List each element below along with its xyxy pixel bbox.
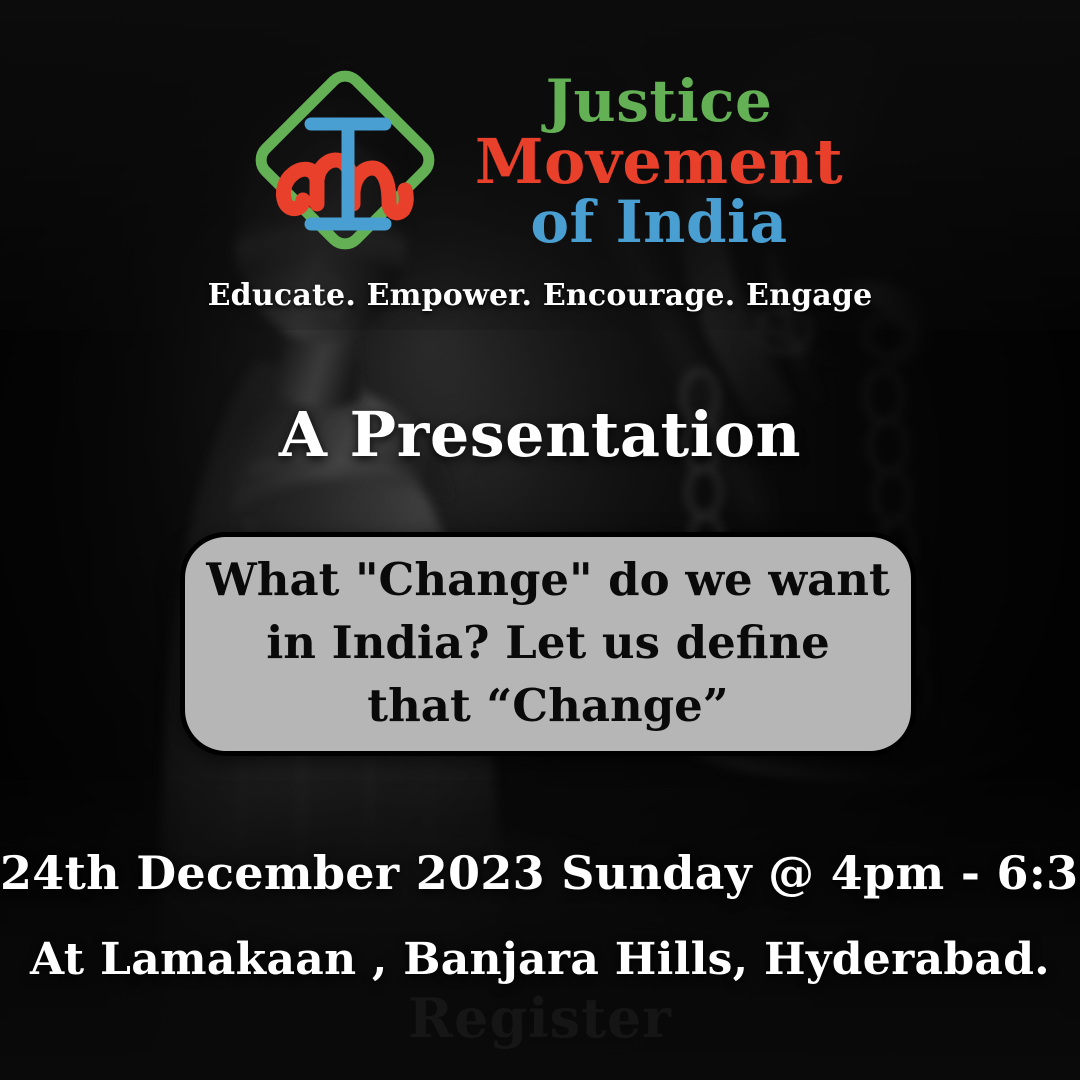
organization-tagline: Educate. Empower. Encourage. Engage [208,278,873,313]
event-poster: Justice Movement of India Educate. Empow… [0,0,1080,1080]
justice-movement-diamond-logo-icon [237,52,453,268]
logo-wordmark: Justice Movement of India [475,73,843,251]
question-line-3: that “Change” [367,674,728,737]
event-details: 24th December 2023 Sunday @ 4pm - 6:30pm… [0,846,1080,985]
logo-word-of-india: of India [530,194,787,251]
question-line-2: in India? Let us define [266,611,830,674]
logo-word-justice: Justice [546,73,773,130]
question-line-1: What "Change" do we want [206,548,890,611]
event-venue: At Lamakaan , Banjara Hills, Hyderabad. [0,934,1080,985]
organization-logo-block: Justice Movement of India Educate. Empow… [0,52,1080,313]
logo-word-movement: Movement [475,132,843,193]
event-date-time: 24th December 2023 Sunday @ 4pm - 6:30pm [0,846,1080,900]
question-callout-box: What "Change" do we want in India? Let u… [180,532,916,756]
logo-row: Justice Movement of India [237,52,843,268]
page-title: A Presentation [0,398,1080,471]
register-watermark-text: Register [0,986,1080,1050]
